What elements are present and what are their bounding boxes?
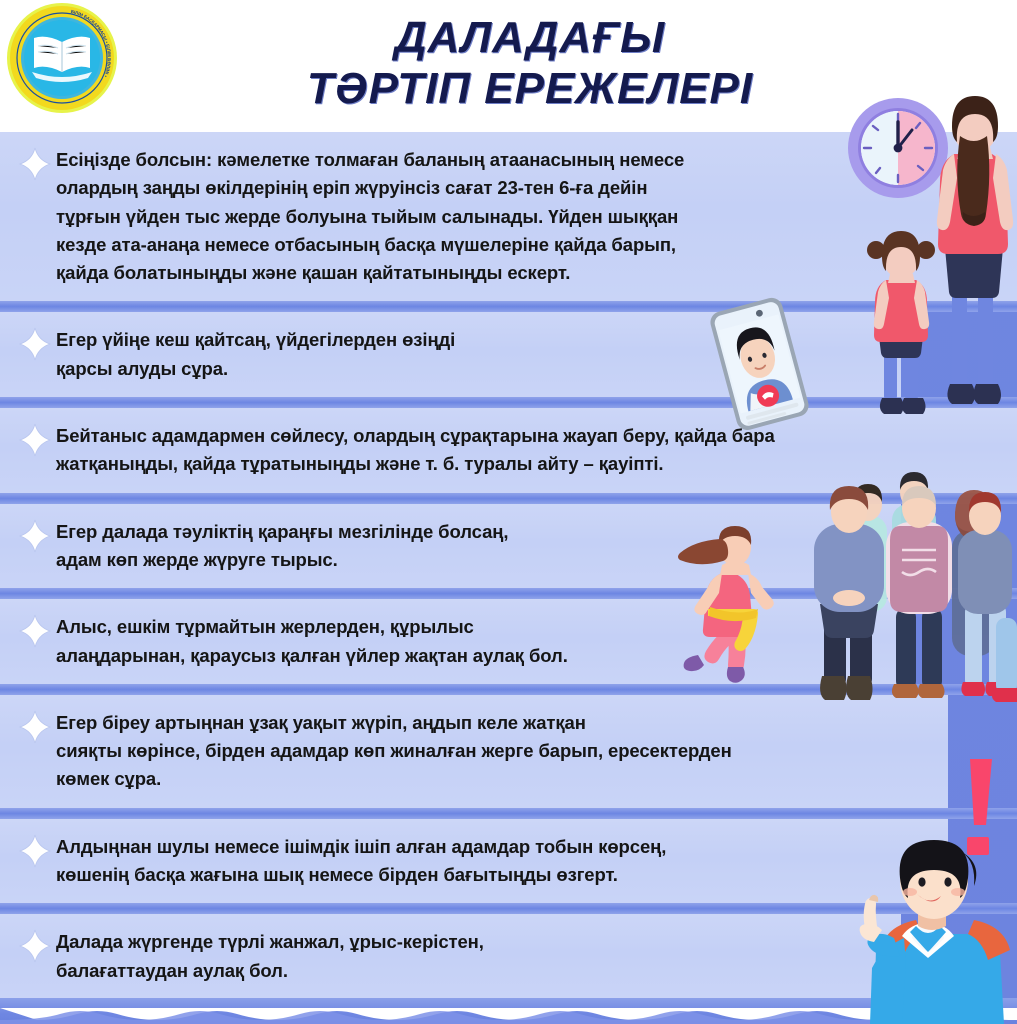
crowd-of-people-illustration xyxy=(800,468,1017,718)
four-point-star-icon xyxy=(18,423,52,457)
four-point-star-icon xyxy=(18,614,52,648)
poster-title: ДАЛАДАҒЫ ТӘРТІП ЕРЕЖЕЛЕРІ xyxy=(210,12,850,114)
rule-text: Егер далада тәуліктің қараңғы мезгілінде… xyxy=(56,518,508,575)
rule-text: Бейтаныс адамдармен сөйлесу, олардың сұр… xyxy=(56,422,775,479)
rule-band: Алдыңнан шулы немесе ішімдік ішіп алған … xyxy=(0,819,948,904)
four-point-star-icon xyxy=(18,710,52,744)
rule-text: Есіңізде болсын: кәмелетке толмаған бала… xyxy=(56,146,684,287)
mother-walking-illustration xyxy=(930,92,1017,422)
title-line-2: ТӘРТІП ЕРЕЖЕЛЕРІ xyxy=(210,63,850,114)
rule-text: Далада жүргенде түрлі жанжал, ұрыс-керіс… xyxy=(56,928,484,985)
rule-text: Егер үйіңе кеш қайтсаң, үйдегілерден өзі… xyxy=(56,326,455,383)
boy-pointing-illustration xyxy=(838,838,1017,1024)
four-point-star-icon xyxy=(18,147,52,181)
rule-band: Далада жүргенде түрлі жанжал, ұрыс-керіс… xyxy=(0,914,901,999)
running-girl-illustration xyxy=(672,525,804,690)
rule-row: Далада жүргенде түрлі жанжал, ұрыс-керіс… xyxy=(0,914,901,999)
rule-text: Алдыңнан шулы немесе ішімдік ішіп алған … xyxy=(56,833,666,890)
child-walking-illustration xyxy=(862,228,940,423)
education-department-emblem: БІЛІМ БАСҚАРМАСЫ • БІЛІМ БӨЛІМІ • xyxy=(6,2,118,114)
rule-text: Алыс, ешкім тұрмайтын жерлерден, құрылыс… xyxy=(56,613,568,670)
title-line-1: ДАЛАДАҒЫ xyxy=(210,12,850,63)
four-point-star-icon xyxy=(18,834,52,868)
four-point-star-icon xyxy=(18,519,52,553)
band-separator xyxy=(0,808,1017,819)
rule-row: Алдыңнан шулы немесе ішімдік ішіп алған … xyxy=(0,819,948,904)
video-call-phone-illustration xyxy=(700,295,818,430)
four-point-star-icon xyxy=(18,327,52,361)
poster-canvas: Есіңізде болсын: кәмелетке толмаған бала… xyxy=(0,0,1017,1024)
rule-text: Егер біреу артыңнан ұзақ уақыт жүріп, аң… xyxy=(56,709,732,794)
four-point-star-icon xyxy=(18,929,52,963)
